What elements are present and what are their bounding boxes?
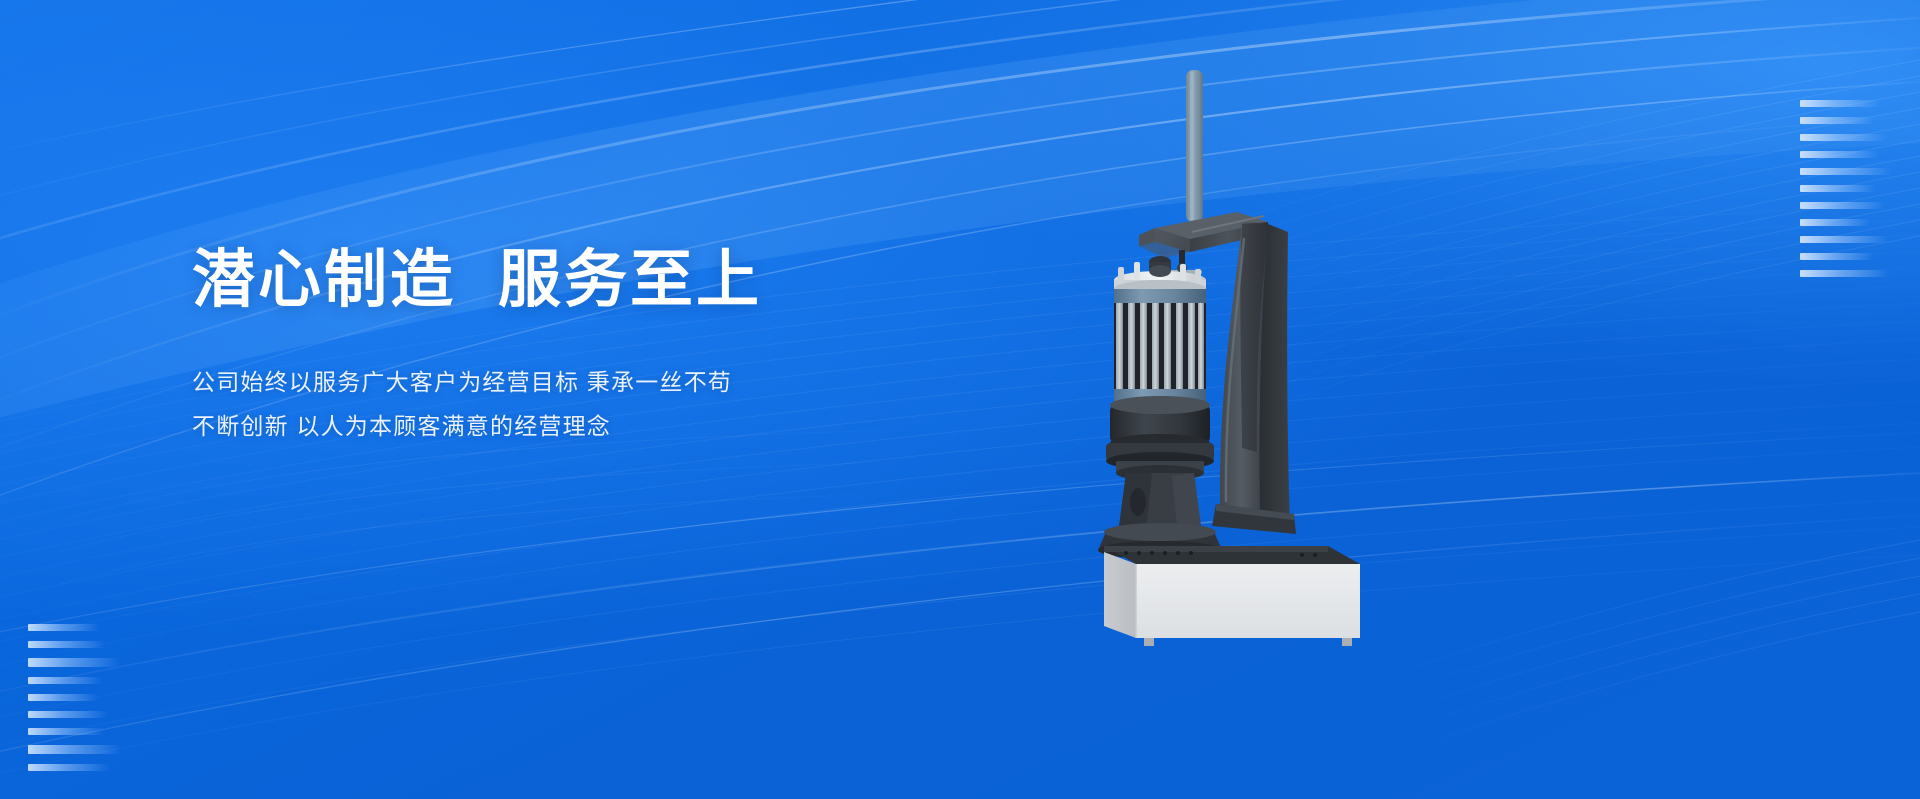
decor-bar-left-2 [28,641,106,648]
decor-bar-right-8 [1800,219,1870,226]
decor-bar-right-7 [1800,202,1884,209]
vertical-probe-rod [1186,70,1203,222]
decor-bar-left-9 [28,764,110,771]
white-cabinet [1104,546,1360,646]
headline-part-1: 潜心制造 [192,245,456,315]
decor-bar-left-8 [28,745,122,754]
decor-bar-right-11 [1800,270,1890,277]
hero-subtitle-line-2: 不断创新 以人为本顾客满意的经营理念 [192,404,1012,448]
decor-bar-right-9 [1800,236,1888,243]
decor-bar-right-1 [1800,100,1880,107]
decor-bar-left-3 [28,658,120,667]
decor-bar-left-4 [28,677,102,684]
decor-bar-left-1 [28,624,100,631]
headline-part-2: 服务至上 [498,245,762,315]
product-machine-image [1092,52,1422,652]
decor-bar-right-10 [1800,253,1874,260]
decor-bar-left-6 [28,711,108,718]
curved-support-column [1212,222,1296,534]
flange-collar [1106,396,1214,481]
decor-bar-left-5 [28,694,98,701]
decor-bar-right-3 [1800,134,1886,141]
ribbed-cylinder-assembly [1114,256,1206,413]
decor-bar-right-2 [1800,117,1874,124]
hero-copy: 潜心制造服务至上 公司始终以服务广大客户为经营目标 秉承一丝不苟 不断创新 以人… [192,246,1012,448]
hero-subtitle-line-1: 公司始终以服务广大客户为经营目标 秉承一丝不苟 [192,360,1012,404]
decor-bar-right-4 [1800,151,1878,158]
decor-bar-right-5 [1800,168,1892,175]
decor-bar-right-6 [1800,185,1876,192]
decor-bars-left [28,624,158,781]
decor-bars-right [1800,100,1920,287]
hero-banner: 潜心制造服务至上 公司始终以服务广大客户为经营目标 秉承一丝不苟 不断创新 以人… [0,0,1920,799]
decor-bar-left-7 [28,728,104,735]
page-title: 潜心制造服务至上 [192,246,1012,314]
